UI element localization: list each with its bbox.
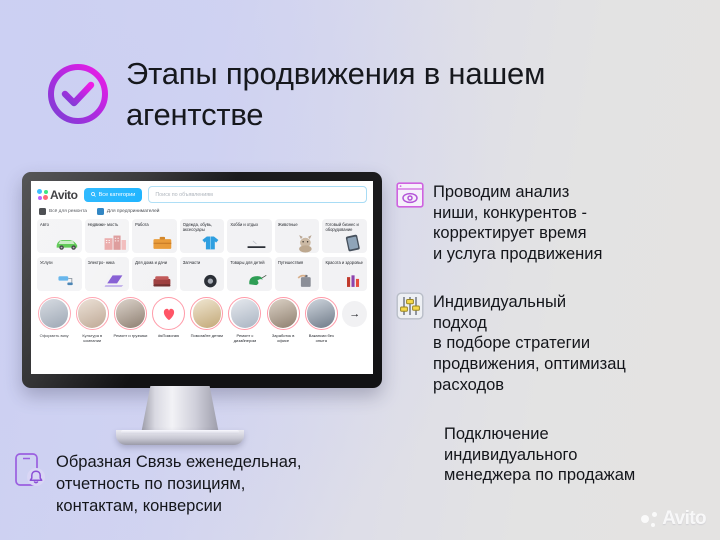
story-avatar [114,297,147,330]
repair-icon [39,208,46,215]
category-tile[interactable]: Работа [132,219,177,253]
story-avatar [152,297,185,330]
category-label: Хобби и отдых [230,222,269,227]
category-label: Услуги [40,260,79,265]
story-item[interactable]: Оформить визу [37,297,71,338]
category-label: Работа [135,222,174,227]
story-label: Ремонт с дизайнером [228,333,262,343]
slide-canvas: Этапы продвижения в нашем агентстве Avit… [0,0,720,540]
avito-watermark-text: Avito [662,508,706,530]
avito-quick-links: Всё для ремонта Для предпринимателей [31,205,373,219]
category-tile[interactable]: Электро- ника [85,257,130,291]
story-item[interactable]: Ремонт с дизайнером [228,297,262,343]
story-item[interactable]: Вакансии без опыта [304,297,338,343]
sofa-illustration [149,267,176,291]
quick-link-repair[interactable]: Всё для ремонта [39,208,87,215]
monitor-stand-neck [141,386,219,434]
category-label: Животные [278,222,317,227]
category-label: Красота и здоровье [325,260,364,265]
avito-watermark-icon [641,512,658,527]
category-label: Недвижи- мость [88,222,127,227]
feature-analysis-text: Проводим анализ ниши, конкурентов - корр… [433,182,602,265]
feature-individual-approach: Индивидуальный подход в подборе стратеги… [396,292,626,395]
monitor-bezel: Avito Все категории Поиск по объявлениям [22,172,382,388]
category-tile[interactable]: Недвижи- мость [85,219,130,253]
category-tile[interactable]: Одежда, обувь, аксессуары [180,219,225,253]
story-avatar [76,297,109,330]
paint-roller-illustration [54,267,81,291]
sliders-icon [396,292,424,320]
suitcase-illustration [292,267,319,291]
all-categories-button[interactable]: Все категории [84,188,143,202]
avito-header: Avito Все категории Поиск по объявлениям [31,181,373,205]
category-row-1: Авто Недвижи- мость [31,219,373,253]
category-tile[interactable]: Товары для детей [227,257,272,291]
browser-eye-icon [396,182,424,208]
category-tile[interactable]: Путешествия [275,257,320,291]
feature-feedback-text: Образная Связь еженедельная, отчетность … [56,452,301,517]
cosmetics-illustration [339,267,366,291]
monitor-stand-base [116,430,244,445]
category-label: Электро- ника [88,260,127,265]
category-label: Авто [40,222,79,227]
toy-illustration [244,267,271,291]
story-label: Вакансии без опыта [304,333,338,343]
category-tile[interactable]: Красота и здоровье [322,257,367,291]
sneakers-illustration [244,229,271,253]
buildings-illustration [101,229,128,253]
feature-analysis: Проводим анализ ниши, конкурентов - корр… [396,182,602,265]
category-tile[interactable]: Хобби и отдых [227,219,272,253]
avito-logo-text: Avito [50,188,78,202]
category-label: Одежда, обувь, аксессуары [183,222,222,232]
search-input[interactable]: Поиск по объявлениям [148,186,367,203]
cat-illustration [292,229,319,253]
story-avatar [305,297,338,330]
avito-watermark: Avito [641,508,706,530]
briefcase-illustration [149,229,176,253]
quick-link-repair-label: Всё для ремонта [49,209,87,214]
page-title: Этапы продвижения в нашем агентстве [126,54,546,136]
quick-link-business-label: Для предпринимателей [107,209,160,214]
jacket-illustration [197,229,224,253]
category-label: Для дома и дачи [135,260,174,265]
stories-row: Оформить визу Культура в компании Ремонт… [31,291,373,343]
story-item[interactable]: Ремонт и грузчики [113,297,147,338]
category-label: Товары для детей [230,260,269,265]
story-label: Оформить визу [37,333,71,338]
story-item[interactable]: #яПомогаю [152,297,186,338]
feature-manager-text: Подключение индивидуального менеджера по… [444,424,635,486]
category-tile[interactable]: Услуги [37,257,82,291]
car-illustration [54,229,81,253]
quick-link-business[interactable]: Для предпринимателей [97,208,160,215]
search-icon [91,192,96,197]
business-icon [97,208,104,215]
phone-notification-icon [14,452,46,490]
category-row-2: Услуги Электро- ника [31,253,373,291]
stories-next-button[interactable]: → [342,301,367,327]
story-label: Заработок в офисе [266,333,300,343]
story-item[interactable]: Помогайте детям [190,297,224,338]
story-label: Ремонт и грузчики [113,333,147,338]
category-label: Путешествия [278,260,317,265]
tire-illustration [197,267,224,291]
story-avatar [228,297,261,330]
avito-logo[interactable]: Avito [37,188,78,202]
check-circle-icon [44,60,112,128]
category-label: Готовый бизнес и оборудование [325,222,364,232]
category-tile[interactable]: Авто [37,219,82,253]
device-illustration [339,229,366,253]
category-tile[interactable]: Готовый бизнес и оборудование [322,219,367,253]
feature-feedback: Образная Связь еженедельная, отчетность … [14,452,301,517]
story-avatar [190,297,223,330]
category-tile[interactable]: Для дома и дачи [132,257,177,291]
story-item[interactable]: Культура в компании [75,297,109,343]
monitor-screen: Avito Все категории Поиск по объявлениям [31,181,373,374]
search-placeholder: Поиск по объявлениям [155,192,213,198]
heart-icon [161,306,177,321]
avito-logo-icon [37,189,48,200]
story-item[interactable]: Заработок в офисе [266,297,300,343]
feature-individual-approach-text: Индивидуальный подход в подборе стратеги… [433,292,626,395]
category-label: Запчасти [183,260,222,265]
laptop-illustration [101,267,128,291]
category-tile[interactable]: Запчасти [180,257,225,291]
story-label: #яПомогаю [152,333,186,338]
story-label: Помогайте детям [190,333,224,338]
story-avatar [38,297,71,330]
all-categories-label: Все категории [99,192,136,198]
monitor-mockup: Avito Все категории Поиск по объявлениям [22,172,382,388]
category-tile[interactable]: Животные [275,219,320,253]
story-avatar [267,297,300,330]
feature-manager: Подключение индивидуального менеджера по… [444,424,635,486]
story-label: Культура в компании [75,333,109,343]
